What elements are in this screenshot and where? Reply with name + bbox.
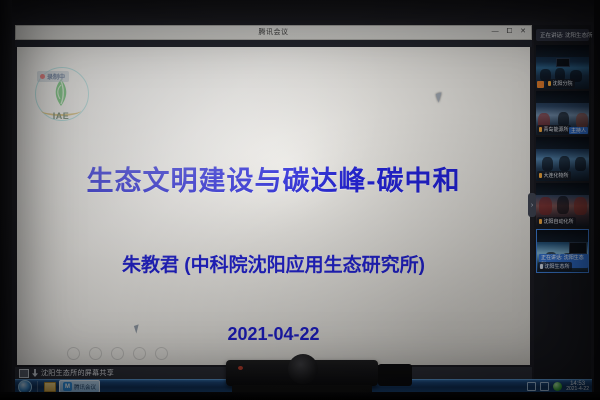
participant-name-badge: 沈阳分院	[546, 79, 575, 88]
camera-indicator-led	[238, 366, 243, 370]
participant-name-badge: 沈阳自动化所	[537, 217, 576, 226]
antivirus-icon[interactable]	[553, 382, 562, 391]
photograph-of-monitor: 腾讯会议 — ⧠ ✕ IAE 录制中 生态文明建设与碳达峰-碳中和	[0, 0, 600, 400]
mic-muted-icon	[539, 127, 542, 132]
window-toolbar-strip	[15, 40, 532, 47]
volume-icon[interactable]	[540, 382, 549, 391]
participant-name: 沈阳自动化所	[544, 218, 574, 225]
slide-date: 2021-04-22	[17, 324, 530, 345]
logo-text: IAE	[31, 111, 91, 121]
participant-name-badge: 沈阳生态所	[538, 262, 572, 271]
filmstrip-scroll-handle[interactable]: ›	[528, 193, 536, 217]
participant-name: 大连化物所	[544, 172, 569, 179]
pen-icon[interactable]	[111, 347, 124, 360]
system-tray[interactable]: 14:53 2021-4-22	[527, 381, 592, 392]
participant-tile-active[interactable]: 正在讲话: 沈阳生态所 沈阳生态所	[536, 229, 589, 273]
scene-ceiling	[536, 45, 589, 57]
network-icon[interactable]	[527, 382, 536, 391]
slide-title: 生态文明建设与碳达峰-碳中和	[17, 159, 530, 198]
scene-person	[574, 197, 587, 215]
tencent-meeting-icon: M	[63, 382, 72, 391]
host-badge-icon	[537, 81, 544, 88]
window-title: 腾讯会议	[16, 27, 531, 37]
scene-ceiling	[536, 137, 589, 149]
participant-filmstrip[interactable]: 正在讲话: 沈阳生态所 沈阳分院	[534, 25, 591, 389]
mouse-cursor-secondary	[436, 92, 444, 102]
participant-tile[interactable]: 大连化物所	[536, 137, 589, 181]
monitor-bezel-top	[0, 0, 600, 22]
scene-person	[559, 156, 570, 171]
taskbar-divider	[37, 381, 38, 392]
next-slide-icon[interactable]	[89, 347, 102, 360]
leaf-icon	[51, 79, 71, 107]
scene-person	[557, 196, 569, 214]
taskbar-clock[interactable]: 14:53 2021-4-22	[566, 381, 589, 392]
scene-ceiling	[536, 91, 589, 103]
scene-person	[542, 157, 553, 171]
participant-name-badge: 大连化物所	[537, 171, 571, 180]
share-status-label: 沈阳生态所的屏幕共享	[41, 368, 114, 378]
monitor-bezel-right	[594, 0, 600, 400]
participant-name: 沈阳生态所	[545, 263, 570, 270]
scene-ceiling	[536, 183, 589, 195]
monitor-icon	[19, 369, 29, 378]
more-icon[interactable]	[133, 347, 146, 360]
recording-label: 录制中	[47, 72, 65, 81]
scene-screen	[556, 58, 570, 67]
active-speaker-banner: 正在讲话: 沈阳生态所	[536, 29, 589, 41]
active-speaker-label: 正在讲话: 沈阳生态所	[540, 31, 593, 39]
folder-icon	[44, 382, 56, 392]
participant-tile[interactable]: 青岛能源所 主持人	[536, 91, 589, 135]
windows-orb-icon	[18, 380, 32, 393]
slide-viewer-controls[interactable]	[67, 345, 187, 361]
scene-chair	[576, 113, 588, 128]
participant-tile[interactable]: 沈阳自动化所	[536, 183, 589, 227]
screen-glare	[17, 47, 530, 365]
prev-slide-icon[interactable]	[67, 347, 80, 360]
taskbar-item-label: 腾讯会议	[74, 383, 96, 391]
monitor-bezel-left	[0, 0, 12, 400]
participant-name: 青岛能源所	[544, 126, 569, 133]
monitor-screen: 腾讯会议 — ⧠ ✕ IAE 录制中 生态文明建设与碳达峰-碳中和	[12, 22, 594, 392]
mic-muted-icon	[539, 173, 542, 178]
desk-surface	[0, 392, 600, 400]
start-button[interactable]	[15, 380, 34, 392]
camera-lens	[288, 354, 318, 384]
window-titlebar: 腾讯会议 — ⧠ ✕	[15, 25, 532, 40]
camera-side-module	[378, 364, 412, 386]
download-arrow-icon	[32, 369, 38, 377]
taskbar-item-tencent-meeting[interactable]: M 腾讯会议	[59, 380, 100, 392]
scene-person	[539, 197, 552, 215]
participant-tile[interactable]: 沈阳分院	[536, 45, 589, 89]
scene-ceiling	[537, 230, 588, 242]
mic-active-icon	[540, 264, 543, 269]
iae-logo: IAE 录制中	[31, 65, 93, 127]
participant-name: 沈阳分院	[553, 80, 573, 87]
recording-badge: 录制中	[37, 71, 69, 82]
fullscreen-icon[interactable]	[155, 347, 168, 360]
participant-name-badge: 青岛能源所	[537, 125, 571, 134]
scene-person	[575, 157, 586, 171]
shared-slide[interactable]: IAE 录制中 生态文明建设与碳达峰-碳中和 朱教君 (中科院沈阳应用生态研究所…	[17, 47, 530, 365]
record-dot-icon	[40, 74, 45, 79]
taskbar-item-folder[interactable]	[41, 381, 59, 392]
host-tag: 主持人	[569, 127, 588, 134]
scene-screen	[569, 242, 587, 254]
slide-author: 朱教君 (中科院沈阳应用生态研究所)	[17, 250, 530, 277]
conference-camera	[226, 360, 378, 386]
window-controls[interactable]: — ⧠ ✕	[492, 27, 529, 36]
mic-muted-icon	[548, 81, 551, 86]
mic-muted-icon	[539, 219, 542, 224]
